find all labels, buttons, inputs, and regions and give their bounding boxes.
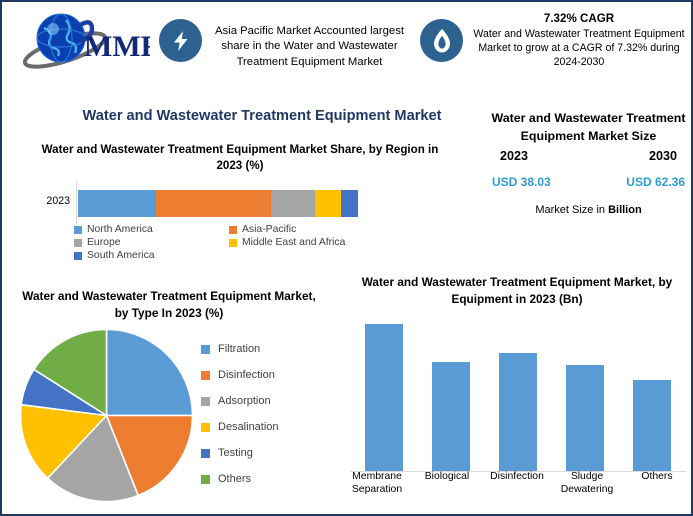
equipment-category-label: Membrane Separation	[344, 470, 410, 496]
pie-legend-item: Adsorption	[201, 388, 341, 414]
type-share-chart: Water and Wastewater Treatment Equipment…	[16, 288, 336, 503]
region-legend-item: Asia-Pacific	[229, 224, 296, 235]
equipment-category-labels: Membrane SeparationBiologicalDisinfectio…	[342, 470, 692, 496]
region-chart-axis	[76, 181, 77, 225]
pie-legend-label: Disinfection	[218, 369, 275, 381]
pie-chart-title: Water and Wastewater Treatment Equipment…	[16, 288, 322, 322]
pie-legend-label: Adsorption	[218, 395, 271, 407]
lightning-bolt-glyph	[169, 29, 193, 53]
region-segment-1	[156, 190, 271, 217]
region-share-chart: Water and Wastewater Treatment Equipment…	[12, 142, 432, 225]
equipment-bar-2	[499, 353, 537, 471]
region-legend-item: North America	[74, 224, 229, 235]
market-size-value-2030: USD 62.36	[626, 175, 685, 189]
equipment-category-label: Biological	[414, 470, 480, 496]
infographic-page: MMR Asia Pacific Market Accounted larges…	[0, 0, 693, 516]
region-legend-item: Europe	[74, 237, 229, 248]
region-chart-title: Water and Wastewater Treatment Equipment…	[40, 142, 440, 175]
equipment-bars	[350, 316, 686, 471]
region-segment-2	[271, 190, 314, 217]
region-legend: North AmericaAsia-PacificEuropeMiddle Ea…	[74, 224, 444, 263]
pie-slice-0	[107, 330, 193, 416]
market-size-footnote-prefix: Market Size in	[535, 204, 608, 216]
legend-swatch-icon	[201, 397, 210, 406]
legend-swatch-icon	[229, 239, 237, 247]
region-legend-label: North America	[87, 224, 153, 235]
equipment-bar-chart: Water and Wastewater Treatment Equipment…	[342, 274, 692, 472]
pie-legend-label: Others	[218, 473, 251, 485]
region-segment-4	[341, 190, 358, 217]
equipment-category-label: Others	[624, 470, 690, 496]
equipment-chart-title: Water and Wastewater Treatment Equipment…	[347, 274, 687, 308]
region-legend-label: Asia-Pacific	[242, 224, 296, 235]
market-size-year-2030: 2030	[649, 149, 677, 163]
region-legend-item: South America	[74, 250, 229, 261]
lightning-bolt-icon	[159, 19, 202, 62]
mmr-logo: MMR	[20, 8, 150, 74]
equipment-category-label: Disinfection	[484, 470, 550, 496]
equipment-category-label: Sludge Dewatering	[554, 470, 620, 496]
legend-swatch-icon	[201, 475, 210, 484]
market-size-panel: Water and Wastewater Treatment Equipment…	[486, 110, 691, 216]
flame-glyph	[431, 28, 453, 54]
pie-legend-label: Desalination	[218, 421, 279, 433]
legend-swatch-icon	[201, 345, 210, 354]
pie-legend-item: Others	[201, 466, 341, 492]
equipment-bar-4	[633, 380, 671, 472]
equipment-bar-1	[432, 362, 470, 471]
market-size-value-2023: USD 38.03	[492, 175, 551, 189]
market-size-unit: Billion	[608, 204, 642, 216]
market-size-year-2023: 2023	[500, 149, 528, 163]
equipment-bar-0	[365, 324, 403, 472]
market-size-footnote: Market Size in Billion	[486, 204, 691, 216]
globe-logo-icon: MMR	[20, 8, 150, 74]
cagr-headline: 7.32% CAGR	[468, 11, 690, 27]
page-title: Water and Wastewater Treatment Equipment…	[42, 108, 482, 124]
region-legend-item: Middle East and Africa	[229, 237, 345, 248]
legend-row: EuropeMiddle East and Africa	[74, 237, 444, 248]
legend-swatch-icon	[229, 226, 237, 234]
header: MMR Asia Pacific Market Accounted larges…	[2, 2, 691, 98]
pie-legend: FiltrationDisinfectionAdsorptionDesalina…	[201, 336, 341, 492]
region-legend-label: South America	[87, 250, 155, 261]
region-stacked-bar	[78, 190, 358, 217]
pie-legend-item: Disinfection	[201, 362, 341, 388]
region-segment-0	[78, 190, 156, 217]
cagr-description: Water and Wastewater Treatment Equipment…	[468, 27, 690, 70]
legend-swatch-icon	[201, 371, 210, 380]
legend-swatch-icon	[201, 449, 210, 458]
legend-swatch-icon	[74, 252, 82, 260]
pie-legend-item: Desalination	[201, 414, 341, 440]
region-category-label: 2023	[22, 195, 70, 207]
header-item-1-text: Asia Pacific Market Accounted largest sh…	[207, 24, 412, 70]
pie-chart-graphic	[19, 328, 194, 503]
flame-droplet-icon	[420, 19, 463, 62]
region-legend-label: Europe	[87, 237, 121, 248]
pie-legend-item: Filtration	[201, 336, 341, 362]
market-size-title: Water and Wastewater Treatment Equipment…	[486, 110, 691, 145]
legend-swatch-icon	[74, 226, 82, 234]
pie-legend-label: Testing	[218, 447, 253, 459]
region-segment-3	[315, 190, 341, 217]
logo-wordmark: MMR	[84, 30, 150, 63]
equipment-bar-3	[566, 365, 604, 471]
pie-legend-item: Testing	[201, 440, 341, 466]
legend-swatch-icon	[74, 239, 82, 247]
region-legend-label: Middle East and Africa	[242, 237, 345, 248]
legend-row: South America	[74, 250, 444, 261]
pie-legend-label: Filtration	[218, 343, 260, 355]
legend-swatch-icon	[201, 423, 210, 432]
legend-row: North AmericaAsia-Pacific	[74, 224, 444, 235]
header-item-2-text: 7.32% CAGR Water and Wastewater Treatmen…	[468, 11, 690, 70]
